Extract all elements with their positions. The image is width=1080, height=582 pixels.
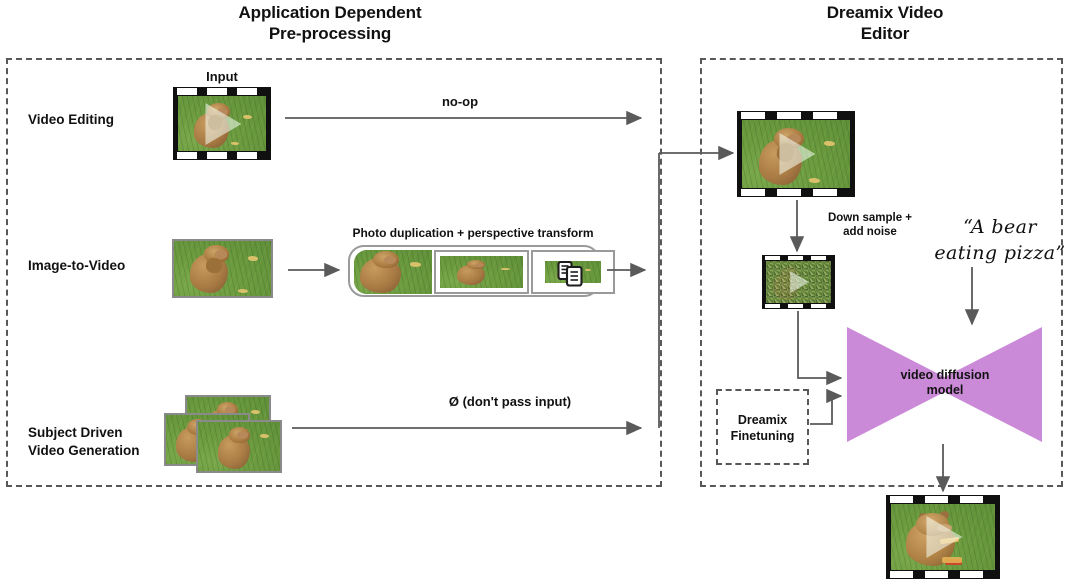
output-video-thumbnail bbox=[886, 495, 1000, 579]
input-caption: Input bbox=[173, 69, 271, 85]
finetuning-label-line1: Dreamix bbox=[716, 412, 809, 428]
left-panel-title-line1: Application Dependent bbox=[160, 2, 500, 23]
right-panel-title-line2: Editor bbox=[770, 23, 1000, 44]
duplicate-frame-1 bbox=[354, 250, 432, 294]
monkey-scene bbox=[354, 250, 432, 294]
editor-input-video-thumbnail bbox=[737, 111, 855, 197]
duplication-box-caption: Photo duplication + perspective transfor… bbox=[348, 226, 598, 240]
monkey-scene bbox=[440, 256, 523, 288]
dreamix-finetuning-label: Dreamix Finetuning bbox=[716, 412, 809, 444]
right-panel-title: Dreamix Video Editor bbox=[770, 2, 1000, 44]
text-prompt-line1: “A bear bbox=[930, 214, 1070, 240]
duplicate-frame-2 bbox=[434, 250, 529, 294]
film-sprockets-top bbox=[737, 111, 855, 120]
film-sprockets-top bbox=[886, 495, 1000, 504]
left-panel-title: Application Dependent Pre-processing bbox=[160, 2, 500, 44]
row-label-video-editing: Video Editing bbox=[28, 111, 178, 129]
film-sprockets-bottom bbox=[173, 151, 271, 160]
edge-label-no-op: no-op bbox=[410, 94, 510, 110]
edge-label-dont-pass-input: Ø (don't pass input) bbox=[360, 394, 660, 410]
image-to-video-input-photo bbox=[172, 239, 273, 298]
bear-eating-pizza-scene bbox=[891, 504, 995, 570]
text-prompt: “A bear eating pizza” bbox=[930, 214, 1070, 266]
copy-icon bbox=[556, 259, 586, 289]
row-label-image-to-video: Image-to-Video bbox=[28, 257, 188, 275]
monkey-scene bbox=[198, 422, 280, 471]
finetuning-label-line2: Finetuning bbox=[716, 428, 809, 444]
downsample-label-line2: add noise bbox=[806, 225, 934, 239]
input-video-thumbnail bbox=[173, 87, 271, 160]
left-panel-title-line2: Pre-processing bbox=[160, 23, 500, 44]
monkey-scene bbox=[178, 96, 266, 151]
text-prompt-line2: eating pizza” bbox=[930, 240, 1070, 266]
monkey-scene bbox=[742, 120, 850, 188]
downsample-label: Down sample + add noise bbox=[806, 211, 934, 239]
diagram-canvas: Application Dependent Pre-processing Dre… bbox=[0, 0, 1080, 582]
film-sprockets-top bbox=[173, 87, 271, 96]
subject-photo-front bbox=[196, 420, 282, 473]
film-sprockets-bottom bbox=[762, 303, 835, 309]
noise-overlay bbox=[766, 261, 831, 303]
right-panel-title-line1: Dreamix Video bbox=[770, 2, 1000, 23]
film-sprockets-bottom bbox=[737, 188, 855, 197]
film-sprockets-bottom bbox=[886, 570, 1000, 579]
noisy-video-thumbnail bbox=[762, 255, 835, 309]
downsample-label-line1: Down sample + bbox=[806, 211, 934, 225]
photo-duplication-box bbox=[348, 245, 600, 297]
video-diffusion-model-label: video diffusion model bbox=[877, 368, 1013, 398]
monkey-scene bbox=[174, 241, 271, 296]
diffusion-label-line1: video diffusion bbox=[877, 368, 1013, 383]
diffusion-label-line2: model bbox=[877, 383, 1013, 398]
